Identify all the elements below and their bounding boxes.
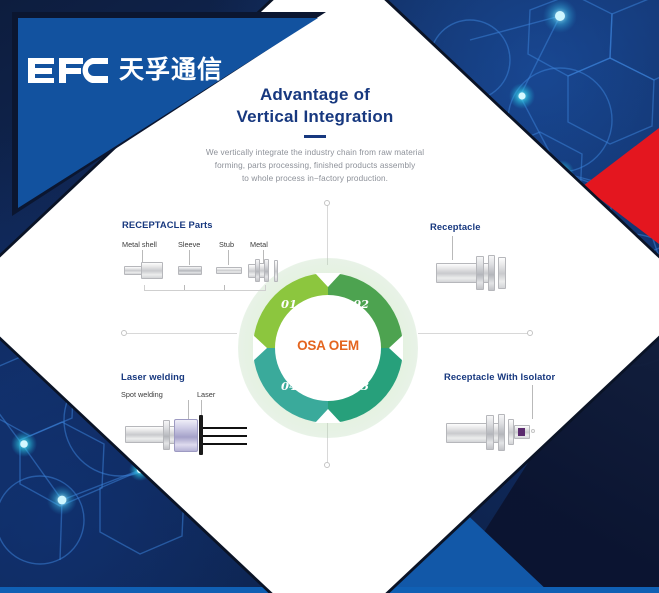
laser-weld-collar bbox=[174, 419, 198, 452]
receptacle-barrel bbox=[436, 263, 478, 283]
donut-label-02: 02 bbox=[353, 297, 369, 311]
receptacle-end-cap bbox=[498, 257, 506, 289]
receptacle-title: Receptacle bbox=[430, 221, 600, 232]
page-title-line2: Vertical Integration bbox=[236, 107, 393, 126]
dimension-tick-2 bbox=[224, 285, 225, 290]
osa-oem-center-label: OSA OEM bbox=[235, 338, 421, 353]
page-title: Advantage of Vertical Integration bbox=[190, 84, 440, 128]
receptacle-block: Receptacle bbox=[430, 221, 600, 301]
connector-dot-bottom bbox=[324, 462, 330, 468]
label-spot-welding: Spot welding bbox=[121, 390, 163, 399]
label-laser: Laser bbox=[197, 390, 215, 399]
dimension-tick-1 bbox=[184, 285, 185, 290]
laser-wire-2 bbox=[203, 435, 247, 437]
leader-line-receptacle bbox=[452, 236, 453, 260]
receptacle-isolator-title: Receptacle With Isolator bbox=[444, 371, 624, 382]
page-title-line1: Advantage of bbox=[260, 85, 370, 104]
receptacle-with-isolator-block: Receptacle With Isolator bbox=[444, 371, 624, 466]
connector-dot-top bbox=[324, 200, 330, 206]
laser-welding-block: Laser welding Spot welding Laser bbox=[121, 371, 301, 466]
isolator-pointer-dot bbox=[531, 429, 535, 433]
leader-line-stub bbox=[228, 250, 229, 265]
description-line1: We vertically integrate the industry cha… bbox=[206, 148, 424, 157]
part-sleeve bbox=[178, 266, 202, 275]
isolator-barrel bbox=[446, 423, 488, 443]
isolator-flange-b bbox=[498, 414, 505, 451]
laser-barrel bbox=[125, 426, 165, 443]
receptacle-parts-block: RECEPTACLE Parts Metal shell Sleeve Stub… bbox=[122, 219, 302, 309]
connector-line-left bbox=[127, 333, 237, 334]
connector-dot-right bbox=[527, 330, 533, 336]
dimension-bracket bbox=[144, 285, 266, 291]
header-block: Advantage of Vertical Integration We ver… bbox=[190, 84, 440, 185]
description-line3: to whole process in−factory production. bbox=[242, 174, 388, 183]
page-description: We vertically integrate the industry cha… bbox=[190, 146, 440, 186]
part-metal-shell-body bbox=[141, 262, 163, 279]
connector-dot-left bbox=[121, 330, 127, 336]
part-label-stub: Stub bbox=[219, 240, 234, 249]
part-metal-flange-b bbox=[264, 259, 269, 282]
laser-wire-1 bbox=[203, 427, 247, 429]
receptacle-flange-b bbox=[488, 255, 495, 291]
cfc-chinese-name: 天孚通信 bbox=[119, 57, 223, 82]
connector-line-right bbox=[418, 333, 528, 334]
description-line2: forming, parts processing, finished prod… bbox=[215, 161, 416, 170]
donut-label-03: 03 bbox=[353, 379, 369, 393]
laser-wire-3 bbox=[203, 443, 247, 445]
part-label-sleeve: Sleeve bbox=[178, 240, 200, 249]
cfc-wordmark-icon bbox=[26, 55, 110, 83]
part-metal-washer bbox=[274, 260, 278, 282]
part-label-metal-shell: Metal shell bbox=[122, 240, 157, 249]
leader-line-spot-welding bbox=[188, 400, 189, 421]
part-label-metal: Metal bbox=[250, 240, 268, 249]
isolator-crystal bbox=[518, 428, 525, 436]
poster-canvas: 天孚通信 Advantage of Vertical Integration W… bbox=[0, 0, 659, 593]
laser-welding-title: Laser welding bbox=[121, 371, 301, 382]
part-metal-shell-tip bbox=[124, 266, 142, 275]
title-divider bbox=[304, 135, 326, 138]
part-stub bbox=[216, 267, 242, 274]
receptacle-parts-title: RECEPTACLE Parts bbox=[122, 219, 302, 230]
leader-line-sleeve bbox=[189, 250, 190, 265]
leader-line-isolator bbox=[532, 385, 533, 419]
cfc-logo[interactable]: 天孚通信 bbox=[26, 55, 223, 83]
